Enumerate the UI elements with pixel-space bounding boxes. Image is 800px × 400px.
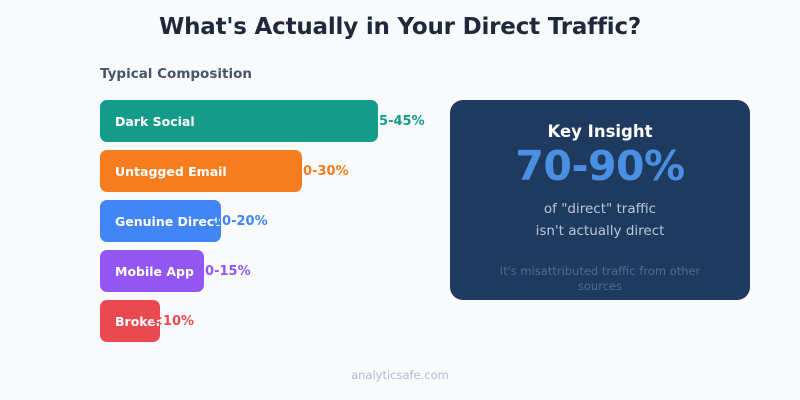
- bar-segment: Broken: [100, 300, 160, 342]
- bar-segment: Genuine Direct: [100, 200, 221, 242]
- key-insight-card: Key Insight 70-90% of "direct" traffic i…: [450, 100, 750, 300]
- bar-label: Dark Social: [100, 114, 195, 129]
- bar-label: Untagged Email: [100, 164, 227, 179]
- key-insight-line-1: of "direct" traffic: [450, 199, 750, 221]
- footer-source: analyticsafe.com: [0, 368, 800, 382]
- bar-label: Mobile App: [100, 264, 194, 279]
- key-insight-note: It's misattributed traffic from other so…: [450, 264, 750, 295]
- key-insight-title: Key Insight: [450, 122, 750, 142]
- bar-row: Untagged Email20-30%: [100, 150, 430, 200]
- bar-value-label: 20-30%: [294, 150, 349, 192]
- bar-segment: Dark Social: [100, 100, 378, 142]
- bar-row: Genuine Direct10-20%: [100, 200, 430, 250]
- bar-chart: Dark Social35-45%Untagged Email20-30%Gen…: [100, 100, 430, 350]
- chart-subtitle: Typical Composition: [100, 66, 252, 82]
- bar-value-label: <10%: [152, 300, 194, 342]
- bar-row: Mobile App10-15%: [100, 250, 430, 300]
- bar-row: Dark Social35-45%: [100, 100, 430, 150]
- bar-value-label: 10-15%: [196, 250, 251, 292]
- bar-row: Broken<10%: [100, 300, 430, 350]
- bar-segment: Untagged Email: [100, 150, 302, 192]
- infographic-canvas: What's Actually in Your Direct Traffic? …: [0, 0, 800, 400]
- key-insight-description: of "direct" traffic isn't actually direc…: [450, 199, 750, 243]
- bar-value-label: 10-20%: [213, 200, 268, 242]
- bar-segment: Mobile App: [100, 250, 204, 292]
- bar-label: Genuine Direct: [100, 214, 220, 229]
- bar-value-label: 35-45%: [370, 100, 425, 142]
- key-insight-line-2: isn't actually direct: [450, 221, 750, 243]
- key-insight-stat: 70-90%: [450, 143, 750, 190]
- page-title: What's Actually in Your Direct Traffic?: [0, 14, 800, 40]
